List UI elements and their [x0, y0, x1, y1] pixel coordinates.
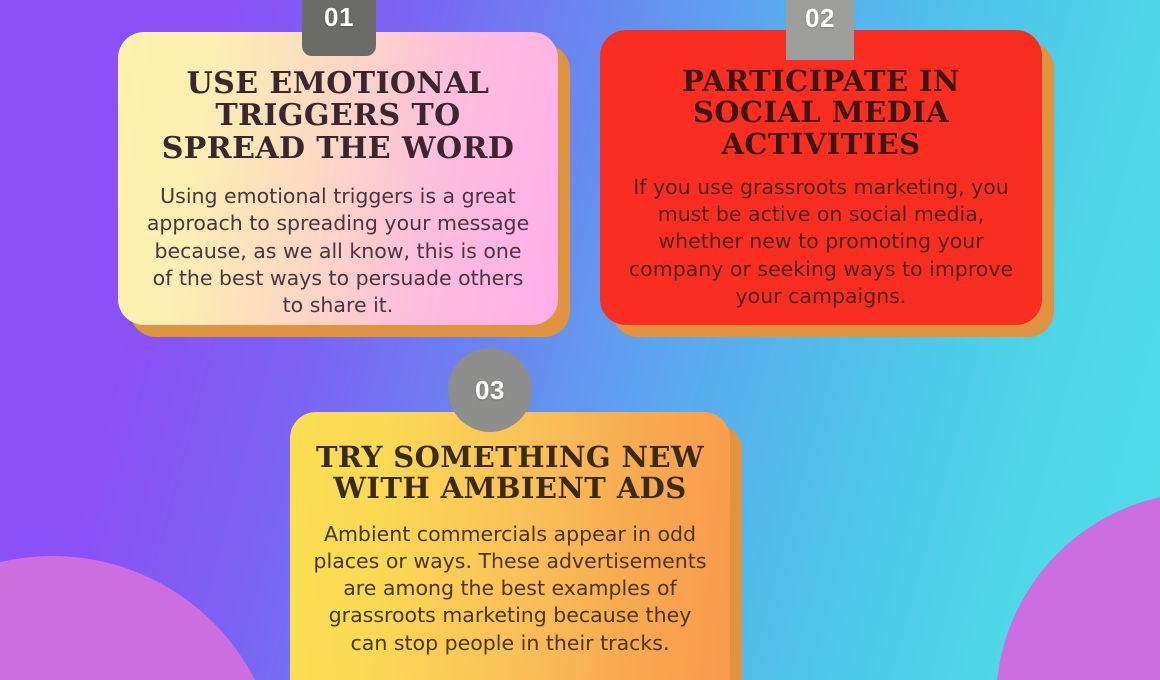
- step-number-badge-01: 01: [302, 0, 376, 56]
- card-surface: TRY SOMETHING NEW WITH AMBIENT ADS Ambie…: [290, 412, 730, 680]
- card-surface: PARTICIPATE IN SOCIAL MEDIA ACTIVITIES I…: [600, 30, 1042, 325]
- infographic-canvas: USE EMOTIONAL TRIGGERS TO SPREAD THE WOR…: [0, 0, 1160, 680]
- card-step-02: PARTICIPATE IN SOCIAL MEDIA ACTIVITIES I…: [600, 30, 1042, 325]
- card-step-03: TRY SOMETHING NEW WITH AMBIENT ADS Ambie…: [290, 412, 730, 680]
- step-number-badge-03: 03: [448, 348, 532, 432]
- step-number-badge-02: 02: [786, 0, 854, 60]
- card-surface: USE EMOTIONAL TRIGGERS TO SPREAD THE WOR…: [118, 32, 558, 325]
- card-step-01: USE EMOTIONAL TRIGGERS TO SPREAD THE WOR…: [118, 32, 558, 325]
- card-body-text: Ambient commercials appear in odd places…: [290, 505, 730, 657]
- card-body-text: Using emotional triggers is a great appr…: [118, 165, 558, 319]
- card-body-text: If you use grassroots marketing, you mus…: [600, 160, 1042, 310]
